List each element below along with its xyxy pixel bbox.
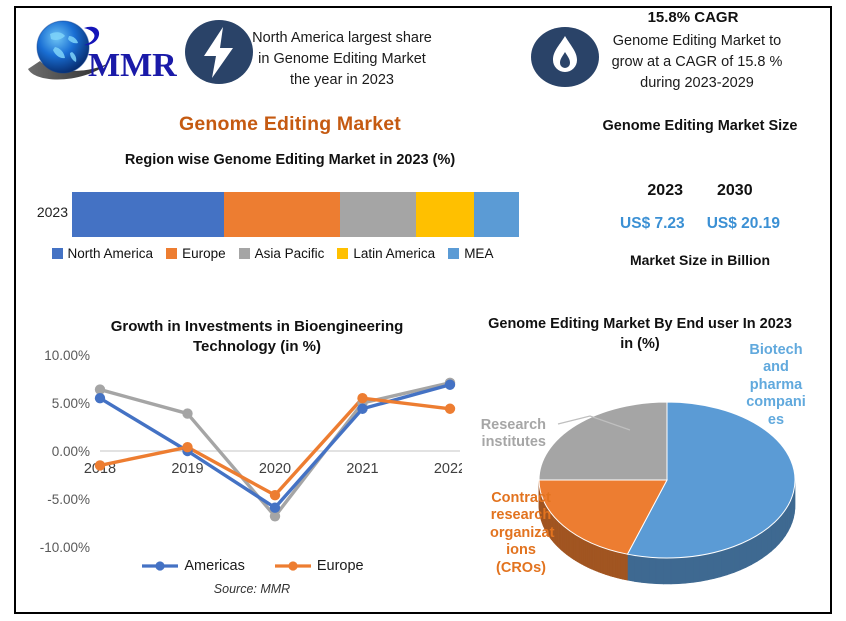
market-size-years: 2023 2030	[575, 182, 825, 200]
pie-label-cro: Contract research organizat ions (CROs)	[490, 490, 552, 577]
market-size-footer: Market Size in Billion	[575, 252, 825, 268]
bar-segment-mea	[474, 192, 519, 237]
pie-slice-side-0	[767, 525, 771, 555]
pie-slice-side-0	[721, 549, 728, 577]
line-legend-item-americas: Americas	[140, 558, 244, 574]
pie-slice-side-1	[598, 546, 600, 573]
pie-slice-side-0	[656, 558, 663, 584]
pie-slice-side-0	[727, 547, 733, 575]
pie-slice-side-1	[610, 550, 612, 577]
pie-slice-side-0	[752, 535, 757, 564]
legend-label: North America	[68, 246, 154, 261]
y-axis-tick-label: 5.00%	[52, 396, 90, 411]
y-axis-tick-label: -10.00%	[40, 540, 90, 555]
legend-swatch-icon	[166, 248, 177, 259]
pie-slice-side-1	[581, 538, 583, 565]
pie-slice-side-0	[671, 558, 678, 584]
bar-segment-europe	[224, 192, 340, 237]
legend-swatch-icon	[239, 248, 250, 259]
bar-segment-asia-pacific	[340, 192, 416, 237]
pie-slice-side-0	[649, 557, 656, 584]
legend-label: Latin America	[353, 246, 435, 261]
market-size-year-2030: 2030	[717, 182, 753, 200]
market-size-value-2030: US$ 20.19	[707, 215, 780, 233]
page-title: Genome Editing Market	[100, 113, 480, 136]
data-point	[445, 380, 455, 390]
pie-slice-side-1	[620, 553, 623, 580]
pie-slice-side-0	[757, 532, 762, 561]
cagr-note: Genome Editing Market to grow at a CAGR …	[604, 31, 790, 94]
pie-slice-research	[539, 402, 667, 480]
investment-growth-line-chart: Growth in Investments in Bioengineering …	[22, 315, 462, 600]
legend-swatch-icon	[448, 248, 459, 259]
pie-slice-side-0	[775, 518, 779, 548]
mmr-logo: MMR	[22, 14, 180, 86]
pie-slice-side-1	[583, 539, 585, 566]
data-point	[357, 393, 367, 403]
x-axis-tick-label: 2020	[259, 461, 291, 477]
north-america-note: North America largest share in Genome Ed…	[250, 28, 434, 91]
data-point	[95, 460, 105, 470]
pie-slice-side-0	[783, 509, 786, 539]
pie-slice-side-0	[642, 556, 649, 583]
line-chart-legend: AmericasEurope	[82, 558, 422, 574]
legend-label: Europe	[182, 246, 226, 261]
legend-item-mea: MEA	[448, 246, 493, 261]
pie-label-biotech: Biotech and pharma compani es	[745, 342, 807, 429]
data-point	[95, 393, 105, 403]
stacked-bar-track	[72, 192, 519, 237]
lightning-bolt-icon	[183, 18, 255, 86]
pie-slice-side-1	[622, 553, 625, 580]
pie-slice-side-1	[596, 545, 598, 572]
data-point	[445, 404, 455, 414]
bar-segment-latin-america	[416, 192, 474, 237]
pie-label-research: Research institutes	[460, 417, 546, 452]
pie-slice-side-0	[635, 555, 642, 582]
y-axis-tick-label: 10.00%	[44, 348, 90, 363]
mmr-logo-text: MMR	[88, 47, 177, 84]
cagr-value: 15.8% CAGR	[600, 9, 786, 26]
pie-slice-side-1	[603, 548, 605, 575]
x-axis-tick-label: 2022	[434, 461, 462, 477]
data-point	[182, 442, 192, 452]
pie-slice-side-0	[740, 541, 746, 570]
market-size-title: Genome Editing Market Size	[575, 118, 825, 134]
legend-line-marker-icon	[273, 560, 313, 572]
pie-slice-side-0	[700, 554, 707, 581]
pie-slice-side-1	[592, 543, 594, 570]
pie-slice-side-1	[625, 554, 628, 581]
region-stacked-bar-chart: 2023	[20, 192, 525, 238]
x-axis-tick-label: 2021	[346, 461, 378, 477]
flame-icon	[523, 26, 607, 88]
pie-slice-side-0	[664, 558, 671, 584]
bar-segment-north-america	[72, 192, 224, 237]
end-user-pie-chart: Genome Editing Market By End user In 202…	[462, 312, 834, 612]
data-point	[270, 502, 280, 512]
market-size-value-2023: US$ 7.23	[620, 215, 685, 233]
pie-slice-side-1	[617, 552, 619, 579]
legend-item-latin-america: Latin America	[337, 246, 435, 261]
legend-item-north-america: North America	[52, 246, 154, 261]
x-axis-tick-label: 2019	[171, 461, 203, 477]
data-point	[182, 408, 192, 418]
line-chart-plot: 10.00%5.00%0.00%-5.00%-10.00%20182019202…	[22, 315, 462, 565]
bar-category-label: 2023	[20, 204, 68, 220]
pie-slice-side-1	[587, 541, 589, 568]
legend-label: Europe	[317, 558, 364, 574]
data-point	[270, 490, 280, 500]
pie-slice-side-1	[615, 551, 617, 578]
pie-slice-side-0	[693, 555, 700, 582]
data-point	[357, 404, 367, 414]
legend-label: MEA	[464, 246, 493, 261]
legend-item-europe: Europe	[166, 246, 226, 261]
pie-slice-side-1	[594, 544, 596, 571]
pie-slice-side-0	[627, 554, 634, 581]
pie-slice-side-0	[762, 529, 767, 558]
pie-slice-side-1	[608, 549, 610, 576]
legend-line-marker-icon	[140, 560, 180, 572]
legend-label: Asia Pacific	[255, 246, 325, 261]
legend-label: Americas	[184, 558, 244, 574]
pie-slice-side-1	[605, 548, 607, 575]
y-axis-tick-label: 0.00%	[52, 444, 90, 459]
legend-swatch-icon	[52, 248, 63, 259]
line-chart-source: Source: MMR	[82, 582, 422, 596]
bar-chart-legend: North AmericaEuropeAsia PacificLatin Ame…	[20, 246, 525, 261]
pie-slice-side-0	[746, 539, 752, 568]
legend-item-asia-pacific: Asia Pacific	[239, 246, 325, 261]
pie-slice-side-0	[734, 544, 740, 572]
y-axis-tick-label: -5.00%	[47, 492, 90, 507]
bar-chart-title: Region wise Genome Editing Market in 202…	[40, 152, 540, 168]
pie-slice-side-1	[601, 547, 603, 574]
pie-slice-side-0	[707, 553, 714, 581]
pie-slice-side-0	[678, 557, 685, 584]
pie-slice-side-0	[714, 551, 721, 579]
line-series-europe	[100, 398, 450, 495]
market-size-year-2023: 2023	[647, 182, 683, 200]
pie-slice-side-0	[686, 556, 693, 583]
pie-slice-side-0	[771, 521, 775, 551]
line-legend-item-europe: Europe	[273, 558, 364, 574]
pie-slice-side-1	[613, 551, 615, 578]
market-size-values: US$ 7.23 US$ 20.19	[568, 215, 832, 233]
pie-slice-side-1	[590, 542, 592, 569]
infographic-page: MMR North America largest share in Genom…	[0, 0, 846, 621]
pie-slice-side-1	[585, 540, 587, 567]
legend-swatch-icon	[337, 248, 348, 259]
pie-slice-side-0	[779, 514, 782, 544]
